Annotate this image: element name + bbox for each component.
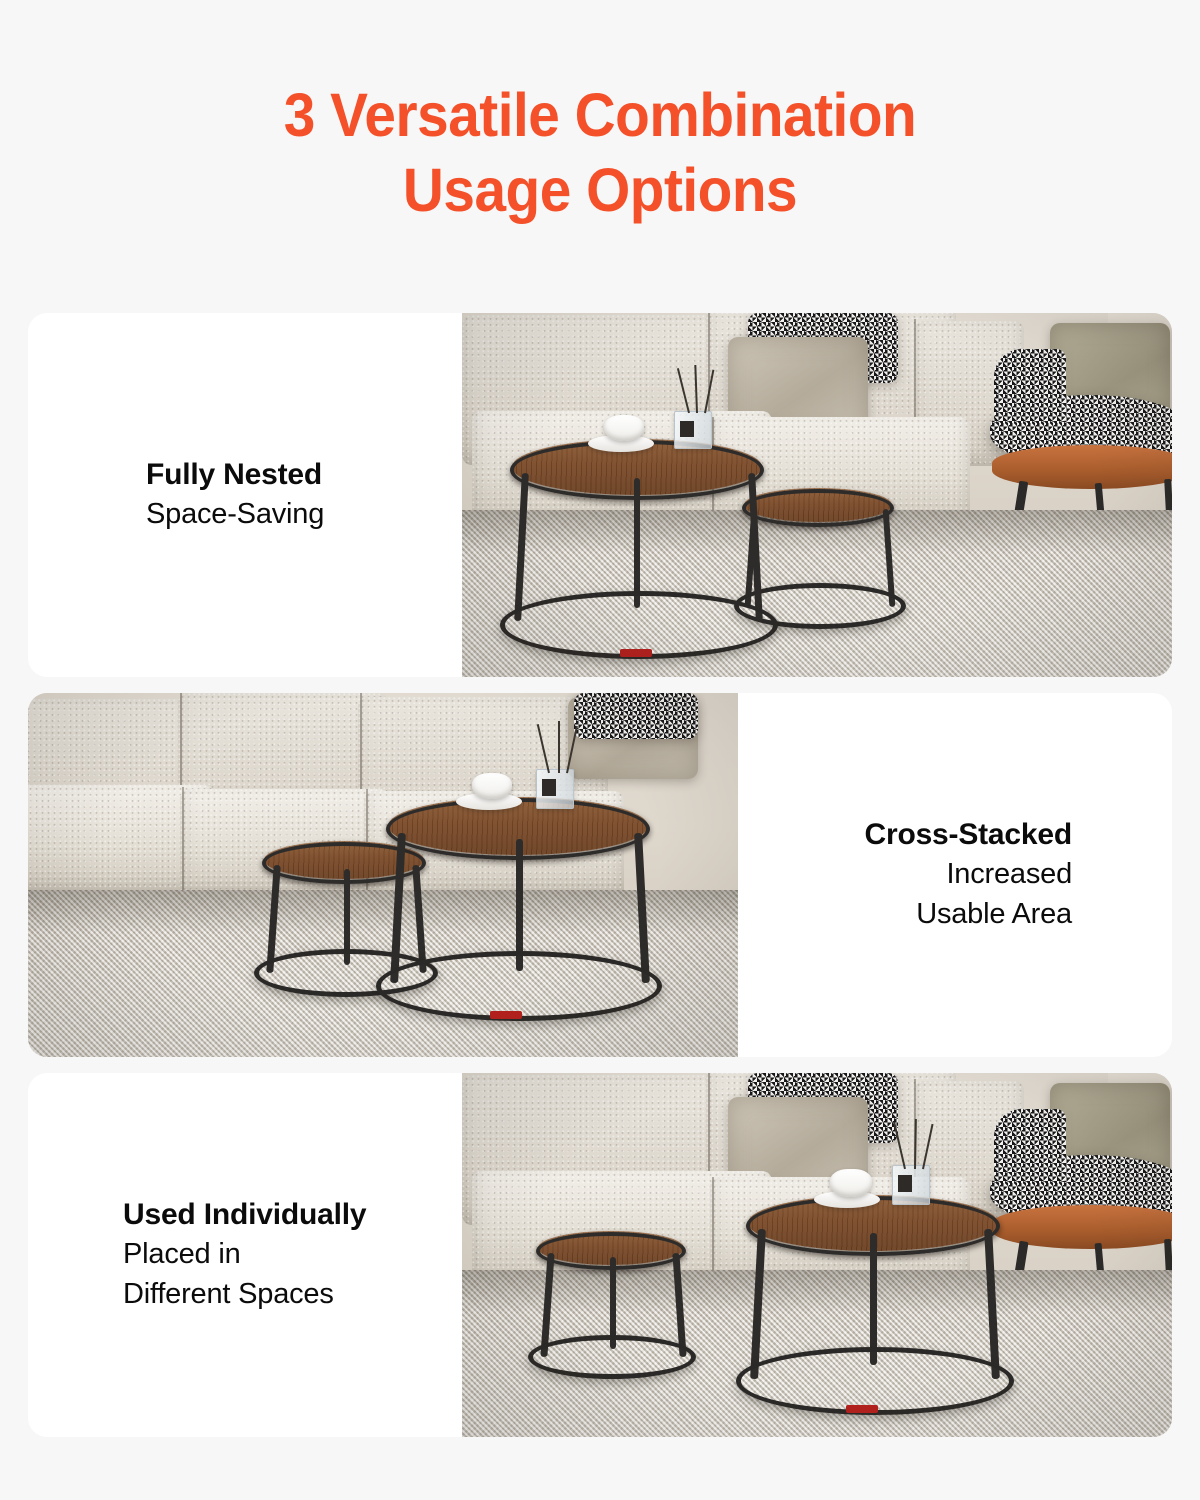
houndstooth-pillow bbox=[574, 693, 698, 739]
coffee-cup bbox=[472, 773, 512, 799]
room-scene bbox=[28, 693, 738, 1057]
card-text-pane: Cross-Stacked Increased Usable Area bbox=[738, 693, 1172, 1057]
card-subtitle: Increased Usable Area bbox=[916, 854, 1072, 934]
card-title: Fully Nested bbox=[146, 456, 322, 494]
card-photo-used-individually bbox=[462, 1073, 1172, 1437]
card-subtitle: Placed in Different Spaces bbox=[123, 1234, 334, 1314]
card-title: Cross-Stacked bbox=[865, 816, 1073, 854]
houndstooth-chair-back bbox=[994, 349, 1066, 423]
large-table-leg bbox=[870, 1233, 877, 1365]
houndstooth-chair-back bbox=[994, 1109, 1066, 1183]
infographic-page: 3 Versatile Combination Usage Options Fu… bbox=[0, 0, 1200, 1500]
diffuser-label bbox=[680, 421, 694, 437]
feature-card-used-individually: Used Individually Placed in Different Sp… bbox=[28, 1073, 1172, 1437]
card-text-pane: Used Individually Placed in Different Sp… bbox=[28, 1073, 462, 1437]
card-text-pane: Fully Nested Space-Saving bbox=[28, 313, 462, 677]
feature-card-cross-stacked: Cross-Stacked Increased Usable Area bbox=[28, 693, 1172, 1057]
brand-label bbox=[620, 649, 652, 657]
rug-shadow bbox=[462, 1270, 1172, 1314]
card-photo-cross-stacked bbox=[28, 693, 738, 1057]
coffee-cup bbox=[604, 415, 644, 441]
brand-label bbox=[490, 1011, 522, 1019]
diffuser-label bbox=[542, 779, 556, 796]
card-subtitle: Space-Saving bbox=[146, 494, 324, 534]
card-title: Used Individually bbox=[123, 1196, 366, 1234]
room-scene bbox=[462, 313, 1172, 677]
diffuser-label bbox=[898, 1175, 912, 1192]
brand-label bbox=[846, 1405, 878, 1413]
small-table-rim bbox=[742, 489, 894, 527]
room-scene bbox=[462, 1073, 1172, 1437]
diffuser-reed bbox=[558, 721, 560, 773]
coffee-cup bbox=[830, 1169, 872, 1197]
sofa-seam bbox=[182, 787, 184, 897]
large-table-leg bbox=[634, 478, 640, 608]
card-photo-fully-nested bbox=[462, 313, 1172, 677]
page-title: 3 Versatile Combination Usage Options bbox=[42, 78, 1158, 228]
rug-shadow bbox=[28, 890, 738, 934]
small-table-base-ring bbox=[528, 1335, 696, 1379]
feature-card-fully-nested: Fully Nested Space-Saving bbox=[28, 313, 1172, 677]
